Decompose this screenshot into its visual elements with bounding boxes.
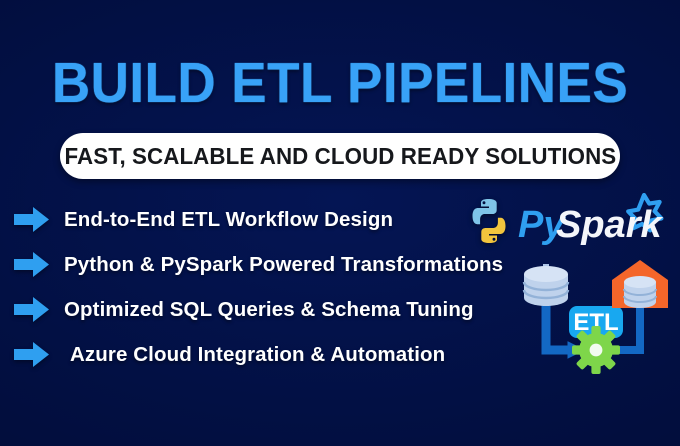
pyspark-logo: Py Spark xyxy=(464,193,676,251)
feature-label: Optimized SQL Queries & Schema Tuning xyxy=(62,298,474,322)
subtitle-pill: FAST, SCALABLE AND CLOUD READY SOLUTIONS xyxy=(60,133,620,179)
pyspark-spark-text: Spark xyxy=(556,204,663,246)
etl-flow-diagram: ETL xyxy=(512,258,678,382)
data-warehouse-icon xyxy=(612,260,668,308)
feature-label: Azure Cloud Integration & Automation xyxy=(62,343,445,367)
arrow-right-icon xyxy=(14,206,50,233)
arrow-right-icon xyxy=(14,251,50,278)
feature-list: End-to-End ETL Workflow Design Python & … xyxy=(14,197,534,377)
arrow-right-icon xyxy=(14,296,50,323)
list-item: Azure Cloud Integration & Automation xyxy=(14,332,534,377)
database-cylinder-icon-inner xyxy=(624,276,656,308)
page-title: BUILD ETL PIPELINES xyxy=(24,52,656,114)
feature-label: End-to-End ETL Workflow Design xyxy=(62,208,393,232)
etl-promo-poster: BUILD ETL PIPELINES FAST, SCALABLE AND C… xyxy=(0,0,680,446)
subtitle-text: FAST, SCALABLE AND CLOUD READY SOLUTIONS xyxy=(64,143,616,170)
list-item: End-to-End ETL Workflow Design xyxy=(14,197,534,242)
list-item: Python & PySpark Powered Transformations xyxy=(14,242,534,287)
gear-icon xyxy=(572,326,620,374)
database-cylinder-icon xyxy=(524,264,568,306)
python-logo-icon xyxy=(464,196,514,246)
pyspark-wordmark: Py Spark xyxy=(518,193,676,251)
feature-label: Python & PySpark Powered Transformations xyxy=(62,253,503,277)
arrow-right-icon xyxy=(14,341,50,368)
list-item: Optimized SQL Queries & Schema Tuning xyxy=(14,287,534,332)
